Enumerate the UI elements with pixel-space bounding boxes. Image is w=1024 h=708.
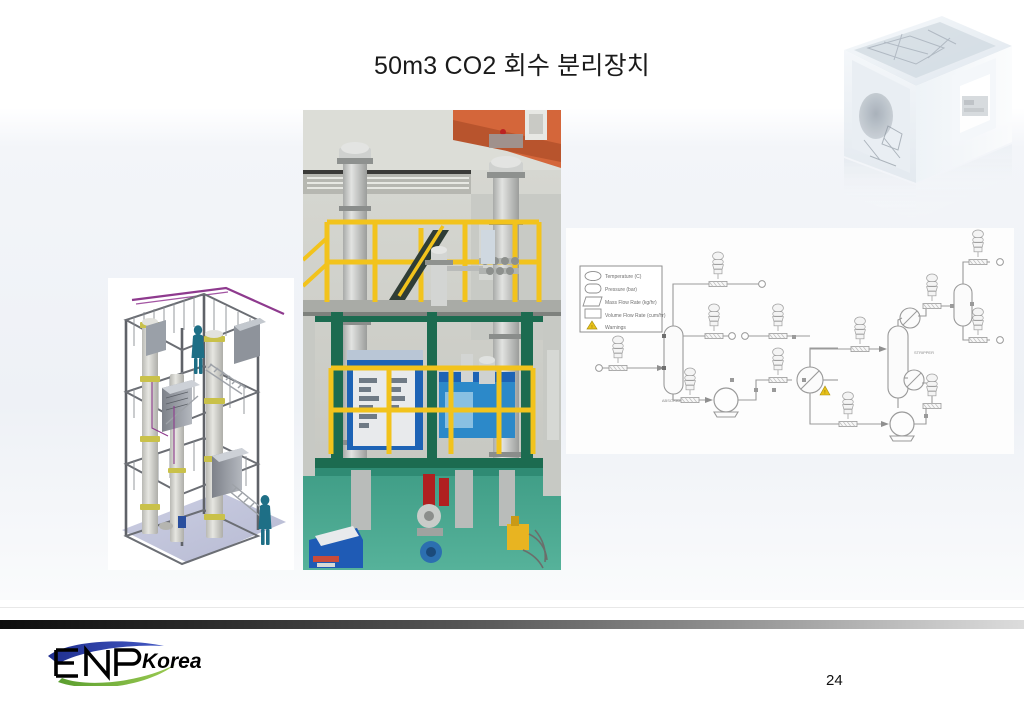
svg-text:Warnings: Warnings <box>605 325 626 331</box>
enp-korea-logo: Korea ENP <box>44 638 254 686</box>
page-number: 24 <box>826 672 886 689</box>
svg-text:!: ! <box>824 390 825 396</box>
footer-gradient-rule <box>0 620 1024 629</box>
svg-text:Mass Flow Rate (kg/hr): Mass Flow Rate (kg/hr) <box>605 300 657 306</box>
process-flow-diagram: .ln{stroke:#9a9a9a;stroke-width:1.1;fill… <box>566 228 1014 454</box>
logo-sub-text: Korea <box>142 650 202 673</box>
svg-text:Volume Flow Rate (cum/hr): Volume Flow Rate (cum/hr) <box>605 313 666 319</box>
decorative-cube-graphic <box>824 8 1020 223</box>
plant-photograph <box>303 110 561 570</box>
footer-hairline <box>0 607 1024 608</box>
svg-text:Temperature (C): Temperature (C) <box>605 274 642 280</box>
svg-text:Pressure (bar): Pressure (bar) <box>605 287 637 293</box>
cad-model-image <box>108 278 294 570</box>
svg-text:!: ! <box>591 324 592 329</box>
pfd-legend: Temperature (C) Pressure (bar) Mass Flow… <box>580 266 666 332</box>
svg-text:STRIPPER: STRIPPER <box>914 350 934 355</box>
